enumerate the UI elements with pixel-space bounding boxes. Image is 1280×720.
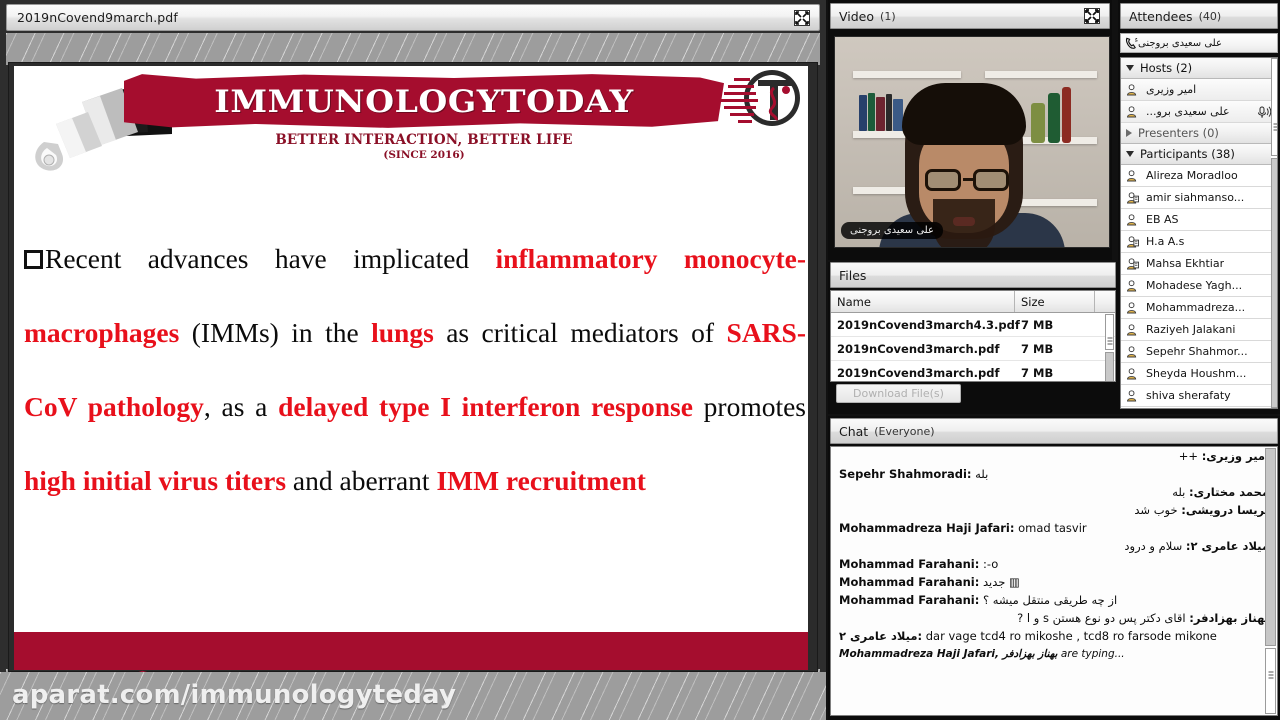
attendee-row[interactable]: amir siahmanso... — [1121, 187, 1277, 209]
logo-tagline: BETTER INTERACTION, BETTER LIFE — [124, 132, 724, 148]
chat-messages[interactable]: امیر وزیری: ++Sepehr Shahmoradi: بلهمحمد… — [830, 446, 1278, 716]
file-row[interactable]: 2019nCovend3march4.3.pdf7 MB — [831, 313, 1115, 337]
participant-icon — [1126, 169, 1139, 183]
bottle — [1062, 87, 1071, 143]
files-pod-header: Files — [830, 262, 1116, 288]
attendees-pod-header: Attendees (40) — [1120, 3, 1278, 29]
logo-banner-text: IMMUNOLOGYTODAY — [103, 80, 745, 124]
book — [886, 94, 892, 131]
chat-author: Sepehr Shahmoradi: — [839, 467, 971, 481]
attendee-group-header[interactable]: Hosts (2) — [1121, 58, 1277, 79]
chat-text: ++ — [1179, 449, 1202, 463]
chat-pod-scope: (Everyone) — [874, 425, 934, 438]
participant-screen-icon — [1126, 235, 1139, 249]
slide-text-highlight: delayed type I interferon response — [278, 391, 693, 422]
attendees-pod-count: (40) — [1199, 10, 1222, 23]
attendee-name: Alireza Moradloo — [1146, 169, 1238, 182]
file-size: 7 MB — [1015, 318, 1095, 332]
chat-message: امیر وزیری: ++ — [831, 447, 1277, 465]
attendee-group-label: Presenters (0) — [1138, 126, 1219, 140]
chat-text: omad tasvir — [1014, 521, 1086, 535]
chat-author: Mohammadreza Haji Jafari, بهناز بهزادفر — [839, 648, 1057, 660]
chevron-right-icon[interactable] — [1126, 129, 1132, 137]
slide-text-highlight: lungs — [371, 317, 434, 348]
column-header-pad — [1095, 291, 1115, 312]
attendee-name: Raziyeh Jalakani — [1146, 323, 1235, 336]
video-stream[interactable]: علی سعیدی بروجنی — [834, 36, 1110, 248]
participant-screen-icon — [1126, 257, 1139, 271]
slide-text-plain: (IMMs) in the — [179, 317, 371, 348]
participant-icon — [1126, 389, 1139, 403]
chat-author: Mohammad Farahani: — [839, 575, 979, 589]
chat-typing-indicator: Mohammadreza Haji Jafari, بهناز بهزادفر … — [831, 645, 1277, 663]
column-header-size[interactable]: Size — [1015, 291, 1095, 312]
watermark-text: aparat.com/immunologyteday — [12, 680, 456, 710]
immunologytoday-logo: IMMUNOLOGYTODAY — [14, 66, 808, 172]
chat-text: are typing... — [1057, 648, 1124, 660]
slide-text-highlight: IMM recruitment — [436, 465, 645, 496]
chat-author: پریسا درویشی: — [1181, 503, 1269, 517]
participant-screen-icon — [1126, 191, 1139, 205]
person-mouth — [953, 217, 975, 226]
slide-footer-bar — [14, 632, 808, 670]
scrollbar-thumb[interactable] — [1271, 58, 1278, 156]
participant-icon — [1126, 105, 1139, 119]
attendee-name: Sepehr Shahmor... — [1146, 345, 1248, 358]
file-size: 7 MB — [1015, 342, 1095, 356]
attendee-row[interactable]: shiva sherafaty — [1121, 385, 1277, 407]
shelf — [853, 71, 961, 78]
files-pod: Files Name Size 2019nCovend3march4.3.pdf… — [828, 262, 1118, 414]
slide-paragraph: Recent advances have implicated inflamma… — [24, 222, 806, 518]
book — [876, 97, 885, 131]
attendee-row[interactable]: EB AS — [1121, 209, 1277, 231]
chat-author: Mohammad Farahani: — [839, 557, 979, 571]
scrollbar-track[interactable] — [1105, 352, 1114, 382]
attendee-name: EB AS — [1146, 213, 1179, 226]
attendee-name: Mohammadreza... — [1146, 301, 1245, 314]
participant-icon — [1126, 323, 1139, 337]
chevron-down-icon[interactable] — [1126, 151, 1134, 157]
fullscreen-icon[interactable] — [792, 8, 812, 28]
file-name: 2019nCovend3march.pdf — [831, 366, 1015, 380]
logo-emblem-icon — [714, 68, 808, 134]
files-table[interactable]: Name Size 2019nCovend3march4.3.pdf7 MB20… — [830, 290, 1116, 382]
slide-text-plain: as critical mediators of — [434, 317, 727, 348]
chat-text: بله — [1172, 485, 1189, 499]
attendee-name: H.a A.s — [1146, 235, 1184, 248]
participant-icon — [1126, 279, 1139, 293]
video-pod: Video (1) — [828, 0, 1112, 260]
participant-icon — [1126, 367, 1139, 381]
file-row[interactable]: 2019nCovend3march.pdf7 MB — [831, 337, 1115, 361]
microphone-active-icon — [1256, 105, 1272, 119]
files-table-header: Name Size — [831, 291, 1115, 313]
logo-since: (SINCE 2016) — [124, 149, 724, 161]
scrollbar-track[interactable] — [1265, 448, 1276, 646]
attendee-name: Mahsa Ekhtiar — [1146, 257, 1224, 270]
attendee-row[interactable]: Sheyda Houshm... — [1121, 363, 1277, 385]
download-files-button[interactable]: Download File(s) — [836, 384, 961, 403]
watermark-strip: aparat.com/immunologyteday — [0, 672, 826, 720]
slide-text-plain: , as a — [204, 391, 278, 422]
attendee-row[interactable]: علی سعیدی برو... — [1121, 101, 1277, 123]
chat-pod-header: Chat (Everyone) — [830, 418, 1278, 444]
attendee-name: علی سعیدی برو... — [1146, 105, 1230, 118]
video-name-label: علی سعیدی بروجنی — [841, 222, 943, 239]
file-size: 7 MB — [1015, 366, 1095, 380]
glasses-icon — [925, 169, 1011, 191]
chat-author: میلاد عامری ۲: — [839, 629, 922, 643]
pdf-page: IMMUNOLOGYTODAY — [14, 66, 808, 670]
meeting-window: 2019nCovend9march.pdf — [0, 0, 1280, 720]
slide-text-plain: promotes — [693, 391, 806, 422]
person-hair — [902, 83, 1026, 145]
share-stage: IMMUNOLOGYTODAY — [6, 33, 820, 681]
chat-author: Mohammadreza Haji Jafari: — [839, 521, 1014, 535]
column-header-name[interactable]: Name — [831, 291, 1015, 312]
chat-pod-title: Chat — [839, 424, 868, 439]
attendee-row[interactable]: Mohadese Yagh... — [1121, 275, 1277, 297]
video-pod-title: Video — [839, 9, 874, 24]
file-row[interactable]: 2019nCovend3march.pdf7 MB — [831, 361, 1115, 382]
bullet-box-icon — [24, 250, 43, 269]
chat-message: میلاد عامری ۲: dar vage tcd4 ro mikoshe … — [831, 627, 1277, 645]
participant-icon — [1126, 213, 1139, 227]
shelf — [985, 71, 1097, 78]
slide-text-plain: Recent advances have implicated — [45, 243, 496, 274]
attendee-self-row[interactable]: علی سعیدی بروجنی — [1120, 33, 1278, 53]
chat-text: dar vage tcd4 ro mikoshe , tcd8 ro farso… — [922, 629, 1217, 643]
attendee-row[interactable]: Mohammadreza... — [1121, 297, 1277, 319]
scrollbar-thumb[interactable] — [1105, 314, 1114, 350]
bottle — [1031, 103, 1045, 143]
slide-text-plain: and aberrant — [286, 465, 436, 496]
share-background-top — [6, 33, 820, 65]
pdf-viewport[interactable]: IMMUNOLOGYTODAY — [8, 62, 818, 672]
share-pod-titlebar: 2019nCovend9march.pdf — [6, 4, 820, 31]
attendees-pod: Attendees (40) علی سعیدی بروجنی Hosts (2… — [1118, 0, 1280, 414]
chat-author: محمد مختاری: — [1189, 485, 1269, 499]
attendee-row[interactable]: امیر وزیری — [1121, 79, 1277, 101]
attendee-name: امیر وزیری — [1146, 83, 1196, 96]
bottle — [1048, 93, 1060, 143]
attendee-name: shiva sherafaty — [1146, 389, 1231, 402]
chat-message: Mohammad Farahani: از چه طریقی منتقل میش… — [831, 591, 1277, 609]
chat-author: امیر وزیری: — [1202, 449, 1269, 463]
chat-text: سلام و درود — [1124, 539, 1186, 553]
book — [868, 93, 875, 131]
attendees-pod-title: Attendees — [1129, 9, 1193, 24]
chat-author: بهناز بهزادفر: — [1189, 611, 1269, 625]
fullscreen-icon[interactable] — [1082, 6, 1102, 26]
participant-icon — [1126, 301, 1139, 315]
chat-author: میلاد عامری ۲: — [1186, 539, 1269, 553]
attendee-group-header[interactable]: Presenters (0) — [1121, 123, 1277, 144]
chat-scrollbar[interactable] — [1265, 448, 1276, 714]
chat-message: بهناز بهزادفر: اقای دکتر پس دو نوع هستن … — [831, 609, 1277, 627]
video-pod-count: (1) — [880, 10, 896, 23]
scrollbar-track[interactable] — [1271, 158, 1278, 408]
chat-text: بله — [971, 467, 988, 481]
participant-icon — [1126, 83, 1139, 97]
attendee-group-header[interactable]: Participants (38) — [1121, 144, 1277, 165]
chat-text: جدید ▥ — [979, 575, 1020, 589]
chevron-down-icon[interactable] — [1126, 65, 1134, 71]
attendee-group-label: Hosts (2) — [1140, 61, 1192, 75]
attendee-row[interactable]: Alireza Moradloo — [1121, 165, 1277, 187]
slide-text-highlight: high initial virus titers — [24, 465, 286, 496]
file-name: 2019nCovend3march.pdf — [831, 342, 1015, 356]
attendee-group-label: Participants (38) — [1140, 147, 1235, 161]
person-head — [905, 89, 1023, 239]
attendee-self-name: علی سعیدی بروجنی — [1138, 38, 1222, 49]
slide-body-text: Recent advances have implicated inflamma… — [24, 222, 806, 518]
attendee-row[interactable]: Mahsa Ekhtiar — [1121, 253, 1277, 275]
video-pod-header: Video (1) — [830, 3, 1110, 29]
chat-message: Sepehr Shahmoradi: بله — [831, 465, 1277, 483]
chat-message: محمد مختاری: بله — [831, 483, 1277, 501]
chat-message: پریسا درویشی: خوب شد — [831, 501, 1277, 519]
file-name: 2019nCovend3march4.3.pdf — [831, 318, 1015, 332]
files-scrollbar[interactable] — [1105, 314, 1114, 382]
attendees-list[interactable]: Hosts (2)امیر وزیریعلی سعیدی برو...Prese… — [1120, 57, 1278, 409]
chat-message: Mohammad Farahani: جدید ▥ — [831, 573, 1277, 591]
attendee-row[interactable]: H.a A.s — [1121, 231, 1277, 253]
share-pod: 2019nCovend9march.pdf — [0, 0, 826, 720]
attendee-name: amir siahmanso... — [1146, 191, 1244, 204]
chat-text: اقای دکتر پس دو نوع هستن s و l ? — [1017, 611, 1189, 625]
chat-pod: Chat (Everyone) امیر وزیری: ++Sepehr Sha… — [828, 416, 1280, 720]
attendee-name: Mohadese Yagh... — [1146, 279, 1242, 292]
chat-message: Mohammad Farahani: :-o — [831, 555, 1277, 573]
participant-icon — [1126, 345, 1139, 359]
chat-text: :-o — [979, 557, 998, 571]
share-file-name: 2019nCovend9march.pdf — [7, 10, 178, 25]
book — [859, 95, 867, 131]
attendee-row[interactable]: Raziyeh Jalakani — [1121, 319, 1277, 341]
chat-text: از چه طریقی منتقل میشه ؟ — [979, 593, 1117, 607]
attendee-row[interactable]: Sepehr Shahmor... — [1121, 341, 1277, 363]
chat-message: Mohammadreza Haji Jafari: omad tasvir — [831, 519, 1277, 537]
attendees-scrollbar[interactable] — [1271, 58, 1278, 408]
phone-icon — [1125, 36, 1138, 50]
scrollbar-thumb[interactable] — [1265, 648, 1276, 714]
chat-text: خوب شد — [1134, 503, 1181, 517]
chat-author: Mohammad Farahani: — [839, 593, 979, 607]
attendee-name: Sheyda Houshm... — [1146, 367, 1246, 380]
chat-message: میلاد عامری ۲: سلام و درود — [831, 537, 1277, 555]
files-pod-title: Files — [839, 268, 866, 283]
